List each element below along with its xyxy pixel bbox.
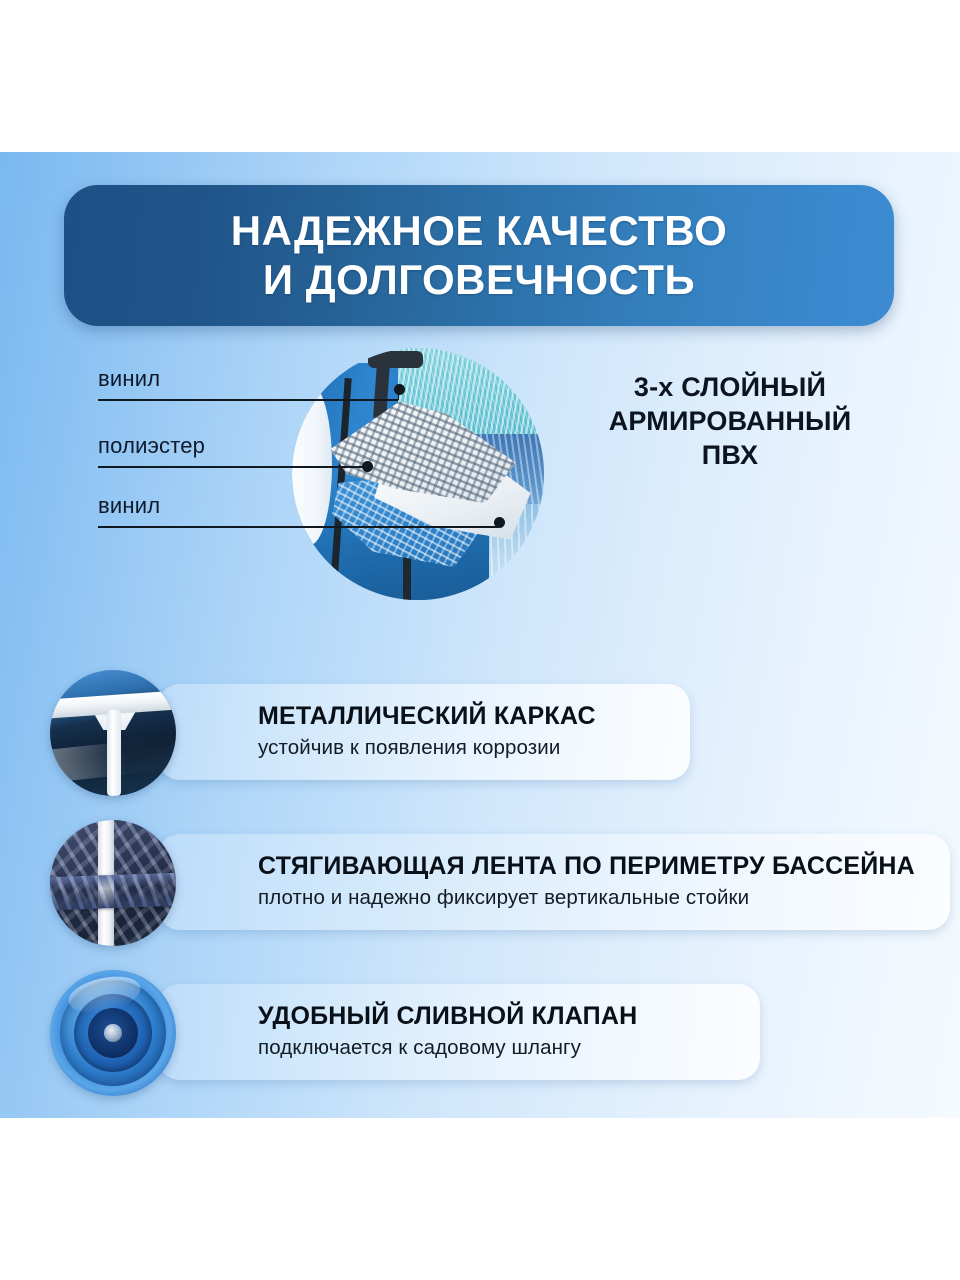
banner-line-2: И ДОЛГОВЕЧНОСТЬ xyxy=(263,256,695,305)
banner-line-1: НАДЕЖНОЕ КАЧЕСТВО xyxy=(231,207,727,256)
layer-label-vinyl-bottom: винил xyxy=(98,493,160,519)
metal-frame-thumb xyxy=(50,670,176,796)
pvc-headline: 3-х СЛОЙНЫЙ АРМИРОВАННЫЙ ПВХ xyxy=(560,370,900,472)
leader-kink-vinyl-top xyxy=(398,389,399,400)
drain-valve-thumb xyxy=(50,970,176,1096)
feature-subtitle: плотно и надежно фиксирует вертикальные … xyxy=(258,886,950,911)
layer-label-vinyl-top: винил xyxy=(98,366,160,392)
layer-label-polyester: полиэстер xyxy=(98,433,205,459)
feature-subtitle: устойчив к появления коррозии xyxy=(258,736,690,761)
leader-dot-vinyl-top xyxy=(394,384,405,395)
pvc-headline-line-1: 3-х СЛОЙНЫЙ xyxy=(560,370,900,404)
feature-subtitle: подключается к садовому шлангу xyxy=(258,1036,760,1061)
content-band: НАДЕЖНОЕ КАЧЕСТВО И ДОЛГОВЕЧНОСТЬ xyxy=(0,152,960,1118)
pvc-layers-section: винил полиэстер винил 3-х СЛОЙНЫЙ АРМИРО… xyxy=(0,348,960,658)
feature-row-drain-valve: УДОБНЫЙ СЛИВНОЙ КЛАПАН подключается к са… xyxy=(50,970,760,1096)
leader-line-vinyl-top xyxy=(98,399,398,401)
feature-title: СТЯГИВАЮЩАЯ ЛЕНТА ПО ПЕРИМЕТРУ БАССЕЙНА xyxy=(258,853,950,881)
layered-pvc-closeup-photo xyxy=(292,348,544,600)
leader-line-polyester xyxy=(98,466,364,468)
feature-card-drain-valve[interactable]: УДОБНЫЙ СЛИВНОЙ КЛАПАН подключается к са… xyxy=(158,984,760,1080)
leader-dot-polyester xyxy=(362,461,373,472)
pvc-headline-line-2: АРМИРОВАННЫЙ xyxy=(560,404,900,438)
feature-card-metal-frame[interactable]: МЕТАЛЛИЧЕСКИЙ КАРКАС устойчив к появлени… xyxy=(158,684,690,780)
tension-strap-thumb xyxy=(50,820,176,946)
infographic-canvas: НАДЕЖНОЕ КАЧЕСТВО И ДОЛГОВЕЧНОСТЬ xyxy=(0,0,960,1280)
leader-line-vinyl-bottom xyxy=(98,526,498,528)
header-banner: НАДЕЖНОЕ КАЧЕСТВО И ДОЛГОВЕЧНОСТЬ xyxy=(64,185,894,326)
feature-row-metal-frame: МЕТАЛЛИЧЕСКИЙ КАРКАС устойчив к появлени… xyxy=(50,670,690,796)
pvc-headline-line-3: ПВХ xyxy=(560,438,900,472)
feature-card-tension-strap[interactable]: СТЯГИВАЮЩАЯ ЛЕНТА ПО ПЕРИМЕТРУ БАССЕЙНА … xyxy=(158,834,950,930)
feature-row-tension-strap: СТЯГИВАЮЩАЯ ЛЕНТА ПО ПЕРИМЕТРУ БАССЕЙНА … xyxy=(50,820,950,946)
feature-title: УДОБНЫЙ СЛИВНОЙ КЛАПАН xyxy=(258,1003,760,1031)
leader-dot-vinyl-bottom xyxy=(494,517,505,528)
feature-title: МЕТАЛЛИЧЕСКИЙ КАРКАС xyxy=(258,703,690,731)
